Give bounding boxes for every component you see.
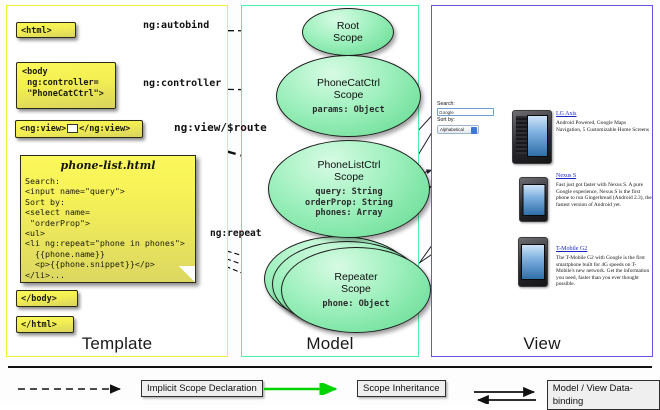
scope-root-name: Root Scope [333, 20, 363, 44]
scope-repeater-props: phone: Object [322, 299, 389, 310]
dashed-arrow-icon [16, 383, 134, 395]
double-arrow-icon [472, 387, 540, 404]
scope-phonelistctrl-name: PhoneListCtrl Scope [317, 159, 380, 183]
legend-label: Scope Inheritance [357, 380, 446, 397]
sort-select[interactable]: Alphabetical [437, 125, 479, 134]
ng-view-close: </ng:view> [79, 124, 130, 134]
label-ng-view-route: ng:view/$route [174, 121, 267, 134]
solid-arrow-icon [262, 383, 350, 395]
phone-thumbnail-lg-axis [512, 110, 552, 164]
phone-list-html-note: phone-list.html Search: <input name="que… [20, 155, 196, 283]
phone-snippet: Android Powered, Google Maps Navigation,… [556, 120, 652, 133]
label-ng-repeat: ng:repeat [210, 228, 261, 239]
label-ng-autobind: ng:autobind [143, 20, 209, 31]
legend: Implicit Scope Declaration Scope Inherit… [0, 364, 660, 405]
screen-icon [522, 184, 545, 216]
tag-body-open: <body ng:controller= "PhoneCatCtrl"> [16, 62, 116, 109]
legend-divider [8, 366, 652, 368]
column-label-model: Model [242, 334, 418, 354]
label-ng-controller: ng:controller [143, 78, 221, 89]
chevron-down-icon [471, 127, 477, 134]
tag-html-close: </html> [16, 316, 74, 333]
phone-thumbnail-t-mobile-g2 [518, 237, 548, 287]
search-label: Search: [437, 101, 497, 108]
diagram-canvas: Template <html> <body ng:controller= "Ph… [0, 0, 660, 405]
legend-label: Model / View Data-binding [547, 380, 660, 410]
note-fold-corner-icon [179, 266, 195, 282]
phone-name-link[interactable]: Nexus S [556, 172, 652, 180]
legend-item-model-view-data-binding: Model / View Data-binding [472, 380, 660, 410]
column-label-template: Template [7, 334, 227, 354]
tag-ng-view: <ng:view></ng:view> [15, 120, 143, 138]
phone-list-item: T-Mobile G2 The T-Mobile G2 with Google … [556, 245, 652, 288]
screen-icon [521, 244, 545, 280]
tag-body-close: </body> [16, 290, 78, 307]
phone-name-link[interactable]: T-Mobile G2 [556, 245, 652, 253]
note-code: Search: <input name="query"> Sort by: <s… [21, 175, 195, 281]
phone-list-item: Nexus S Fast just got faster with Nexus … [556, 172, 652, 208]
tag-html-open: <html> [16, 22, 76, 38]
scope-phonelistctrl: PhoneListCtrl Scope query: String orderP… [268, 140, 430, 238]
phone-thumbnail-nexus-s [519, 177, 548, 222]
scope-phonecatctrl: PhoneCatCtrl Scope params: Object [276, 55, 421, 137]
sort-label: Sort by: [437, 117, 497, 124]
column-label-view: View [432, 334, 652, 354]
search-input[interactable]: Google [437, 108, 494, 116]
scope-repeater-name: Repeater Scope [334, 271, 377, 295]
phone-name-link[interactable]: LG Axis [556, 110, 652, 118]
phone-snippet: Fast just got faster with Nexus S. A pur… [556, 182, 652, 208]
search-form: Search: Google Sort by: Alphabetical [437, 101, 497, 134]
scope-phonecatctrl-name: PhoneCatCtrl Scope [317, 77, 380, 101]
sort-select-value: Alphabetical [440, 127, 464, 132]
phone-list-item: LG Axis Android Powered, Google Maps Nav… [556, 110, 652, 133]
ng-view-placeholder-icon [67, 124, 78, 133]
legend-label: Implicit Scope Declaration [141, 380, 263, 397]
scope-phonecatctrl-props: params: Object [312, 105, 384, 116]
ng-view-open: <ng:view> [20, 124, 66, 134]
note-title: phone-list.html [21, 156, 195, 175]
legend-item-implicit-scope-declaration: Implicit Scope Declaration [16, 380, 263, 397]
scope-root: Root Scope [302, 8, 394, 56]
legend-item-scope-inheritance: Scope Inheritance [262, 380, 446, 397]
scope-repeater: Repeater Scope phone: Object [281, 247, 431, 333]
phone-snippet: The T-Mobile G2 with Google is the first… [556, 255, 652, 288]
screen-icon [527, 115, 548, 157]
scope-phonelistctrl-props: query: String orderProp: String phones: … [305, 187, 393, 219]
